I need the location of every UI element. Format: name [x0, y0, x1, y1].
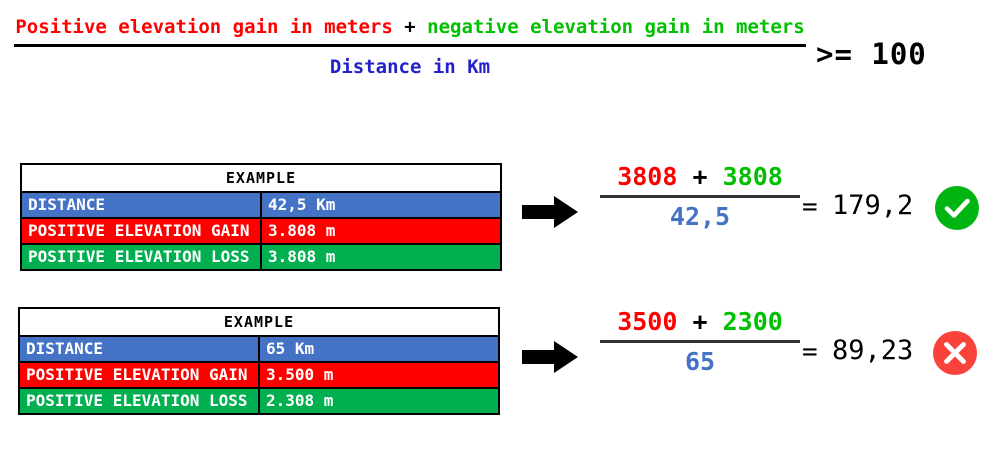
table-row-title: EXAMPLE: [21, 164, 501, 192]
table-row: DISTANCE 42,5 Km: [21, 192, 501, 218]
calculation-denominator: 65: [600, 343, 800, 377]
example-table-2: EXAMPLE DISTANCE 65 Km POSITIVE ELEVATIO…: [18, 307, 500, 415]
equals-sign: =: [802, 337, 818, 367]
table-row: POSITIVE ELEVATION GAIN 3.808 m: [21, 218, 501, 244]
row-label-elevation-loss: POSITIVE ELEVATION LOSS: [21, 244, 261, 270]
arrow-right-icon: [520, 194, 580, 230]
row-label-elevation-loss: POSITIVE ELEVATION LOSS: [19, 388, 259, 414]
table-row: POSITIVE ELEVATION GAIN 3.500 m: [19, 362, 499, 388]
calculation-denominator: 42,5: [600, 198, 800, 232]
numerator-left-value: 3500: [617, 307, 677, 336]
example-table-title: EXAMPLE: [19, 308, 499, 336]
numerator-operator: +: [692, 162, 707, 191]
numerator-plus-operator: +: [404, 16, 415, 38]
calculation-result: 89,23: [832, 335, 913, 366]
row-label-elevation-gain: POSITIVE ELEVATION GAIN: [21, 218, 261, 244]
master-formula-comparison: >= 100: [816, 37, 927, 71]
calculation-numerator: 3808 + 3808: [600, 162, 800, 192]
table-row: POSITIVE ELEVATION LOSS 2.308 m: [19, 388, 499, 414]
table-row-title: EXAMPLE: [19, 308, 499, 336]
table-row: DISTANCE 65 Km: [19, 336, 499, 362]
row-value-distance: 65 Km: [259, 336, 499, 362]
master-formula-denominator: Distance in Km: [14, 47, 806, 80]
table-row: POSITIVE ELEVATION LOSS 3.808 m: [21, 244, 501, 270]
master-formula-numerator: Positive elevation gain in meters + nega…: [14, 14, 806, 40]
numerator-left-value: 3808: [617, 162, 677, 191]
master-formula: Positive elevation gain in meters + nega…: [0, 0, 1000, 115]
calculation-result: 179,2: [832, 190, 913, 221]
calculation-fraction-2: 3500 + 2300 65: [600, 307, 800, 377]
x-circle-icon: [933, 331, 977, 375]
row-label-elevation-gain: POSITIVE ELEVATION GAIN: [19, 362, 259, 388]
equals-sign: =: [802, 192, 818, 222]
row-label-distance: DISTANCE: [21, 192, 261, 218]
row-label-distance: DISTANCE: [19, 336, 259, 362]
denominator-distance-text: Distance in Km: [330, 56, 490, 78]
example-table-title: EXAMPLE: [21, 164, 501, 192]
example-table-1: EXAMPLE DISTANCE 42,5 Km POSITIVE ELEVAT…: [20, 163, 502, 271]
row-value-elevation-loss: 3.808 m: [261, 244, 501, 270]
check-circle-icon: [935, 186, 979, 230]
numerator-positive-gain-text: Positive elevation gain in meters: [15, 16, 393, 38]
numerator-right-value: 3808: [723, 162, 783, 191]
row-value-elevation-gain: 3.500 m: [259, 362, 499, 388]
numerator-right-value: 2300: [723, 307, 783, 336]
calculation-fraction-1: 3808 + 3808 42,5: [600, 162, 800, 232]
row-value-elevation-loss: 2.308 m: [259, 388, 499, 414]
numerator-operator: +: [692, 307, 707, 336]
calculation-numerator: 3500 + 2300: [600, 307, 800, 337]
row-value-elevation-gain: 3.808 m: [261, 218, 501, 244]
master-fraction: Positive elevation gain in meters + nega…: [14, 14, 806, 80]
arrow-right-icon: [520, 339, 580, 375]
numerator-negative-gain-text: negative elevation gain in meters: [427, 16, 805, 38]
row-value-distance: 42,5 Km: [261, 192, 501, 218]
